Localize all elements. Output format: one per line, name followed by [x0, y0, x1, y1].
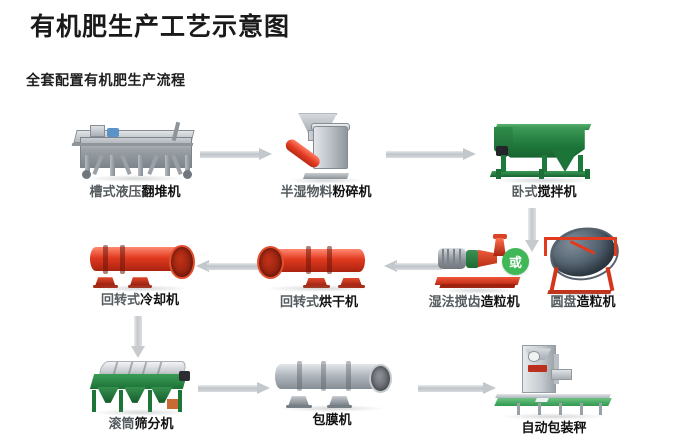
node-turner[interactable]: 槽式液压翻堆机 — [72, 118, 198, 180]
node-dryer[interactable]: 回转式烘干机 — [252, 234, 386, 290]
label-screener: 滚筒筛分机 — [108, 418, 173, 431]
label-mixer-pre: 卧式 — [511, 185, 537, 200]
flowchart-canvas: 有机肥生产工艺示意图 全套配置有机肥生产流程 槽式液压翻堆机 — [0, 0, 700, 446]
label-screener-pre: 滚筒 — [108, 417, 134, 432]
label-dryer-key: 烘干机 — [319, 295, 358, 310]
label-disc-granulator-pre: 圆盘 — [550, 295, 576, 310]
or-badge: 或 — [502, 248, 529, 275]
crusher-illustration — [280, 112, 372, 182]
label-turner-pre: 槽式液压 — [89, 185, 141, 200]
label-coater-key: 包膜机 — [312, 413, 351, 428]
label-wet-granulator: 湿法搅齿造粒机 — [429, 296, 520, 309]
label-packer: 自动包装秤 — [521, 422, 586, 435]
node-mixer[interactable]: 卧式搅拌机 — [484, 118, 604, 182]
arrow-r3-b — [418, 382, 496, 395]
node-crusher[interactable]: 半湿物料粉碎机 — [280, 112, 372, 182]
label-cooler-key: 冷却机 — [140, 293, 179, 308]
screener-illustration — [80, 352, 202, 414]
page-subtitle: 全套配置有机肥生产流程 — [26, 70, 186, 90]
label-coater: 包膜机 — [312, 414, 351, 427]
node-packer[interactable]: 自动包装秤 — [488, 344, 620, 418]
label-cooler-pre: 回转式 — [101, 293, 140, 308]
label-packer-key: 自动包装秤 — [521, 421, 586, 436]
label-disc-granulator-key: 造粒机 — [577, 295, 616, 310]
dryer-illustration — [252, 234, 386, 290]
coater-illustration — [264, 352, 400, 410]
arrow-r3-a — [198, 382, 270, 395]
arrow-l2-a — [196, 260, 258, 273]
label-turner-key: 翻堆机 — [142, 185, 181, 200]
page-title: 有机肥生产工艺示意图 — [30, 14, 290, 39]
turner-illustration — [72, 118, 198, 180]
label-crusher: 半湿物料粉碎机 — [280, 186, 371, 199]
disc-granulator-illustration — [534, 224, 632, 296]
mixer-illustration — [484, 118, 604, 182]
label-turner: 槽式液压翻堆机 — [89, 186, 180, 199]
cooler-illustration — [78, 232, 202, 290]
or-badge-label: 或 — [509, 252, 522, 271]
label-mixer-key: 搅拌机 — [538, 185, 577, 200]
label-crusher-key: 粉碎机 — [333, 185, 372, 200]
arrow-r1-a — [200, 148, 272, 161]
label-mixer: 卧式搅拌机 — [511, 186, 576, 199]
label-disc-granulator: 圆盘造粒机 — [550, 296, 615, 309]
label-dryer-pre: 回转式 — [280, 295, 319, 310]
label-screener-key: 筛分机 — [135, 417, 174, 432]
label-crusher-pre: 半湿物料 — [280, 185, 332, 200]
arrow-r1-b — [386, 148, 476, 161]
node-screener[interactable]: 滚筒筛分机 — [80, 352, 202, 414]
label-cooler: 回转式冷却机 — [101, 294, 179, 307]
label-wet-granulator-key: 造粒机 — [481, 295, 520, 310]
node-coater[interactable]: 包膜机 — [264, 352, 400, 410]
label-dryer: 回转式烘干机 — [280, 296, 358, 309]
packer-illustration — [488, 344, 620, 418]
node-cooler[interactable]: 回转式冷却机 — [78, 232, 202, 290]
label-wet-granulator-pre: 湿法搅齿 — [429, 295, 481, 310]
node-disc-granulator[interactable]: 圆盘造粒机 — [534, 224, 632, 296]
